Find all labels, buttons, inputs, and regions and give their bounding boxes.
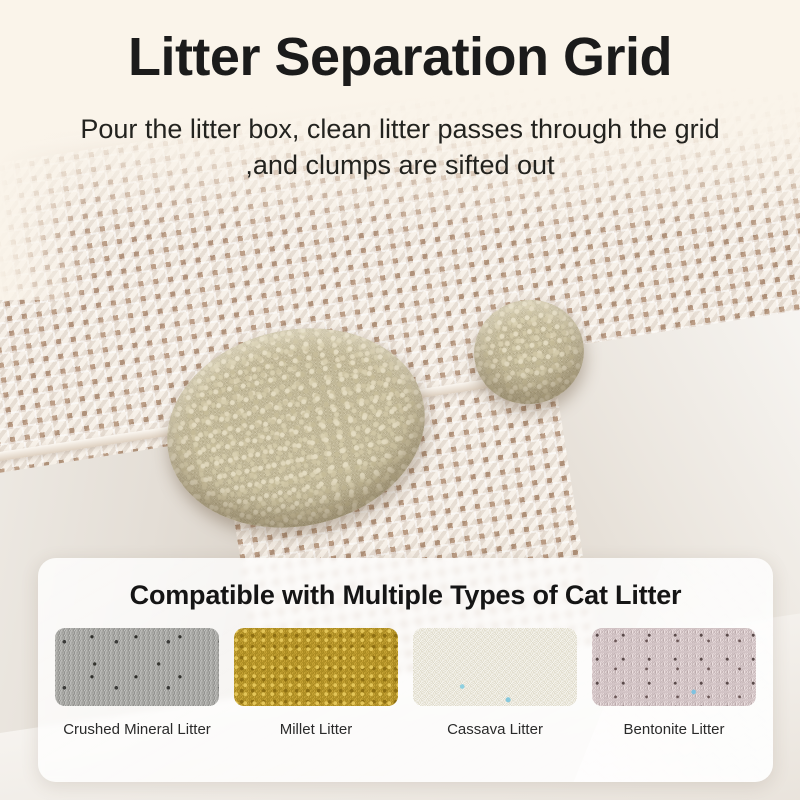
millet-litter-swatch [234,628,398,706]
litter-type-label: Millet Litter [280,721,353,738]
litter-type-item-bentonite[interactable]: Bentonite Litter [591,628,757,768]
bentonite-litter-swatch [592,628,756,706]
page-title: Litter Separation Grid [0,30,800,84]
litter-type-item-millet[interactable]: Millet Litter [233,628,399,768]
litter-type-item-cassava[interactable]: Cassava Litter [412,628,578,768]
litter-type-label: Bentonite Litter [624,721,725,738]
litter-type-list: Crushed Mineral Litter Millet Litter Cas… [54,628,757,768]
crushed-mineral-litter-swatch [55,628,219,706]
compatibility-card-title: Compatible with Multiple Types of Cat Li… [38,580,773,611]
cassava-litter-swatch [413,628,577,706]
subtitle: Pour the litter box, clean litter passes… [0,112,800,184]
subtitle-line-1: Pour the litter box, clean litter passes… [0,112,800,148]
product-infographic: Litter Separation Grid Pour the litter b… [0,0,800,800]
litter-type-label: Cassava Litter [447,721,543,738]
compatibility-card: Compatible with Multiple Types of Cat Li… [38,558,773,782]
subtitle-line-2: ,and clumps are sifted out [0,148,800,184]
litter-type-label: Crushed Mineral Litter [63,721,211,738]
litter-type-item-crushed-mineral[interactable]: Crushed Mineral Litter [54,628,220,768]
